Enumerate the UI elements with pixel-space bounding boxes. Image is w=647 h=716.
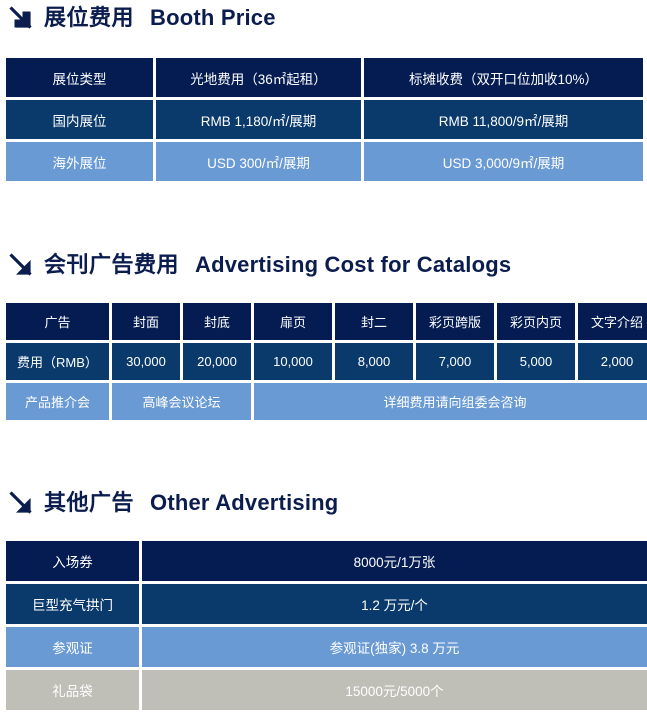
section-title-en-catalog: Advertising Cost for Catalogs (195, 254, 511, 276)
table-row: 广告 封面 封底 扉页 封二 彩页跨版 彩页内页 文字介绍 (6, 303, 647, 340)
section-title-en-booth: Booth Price (150, 7, 276, 29)
table-row: 参观证 参观证(独家) 3.8 万元 (6, 627, 647, 667)
section-header-catalog: 会刊广告费用 Advertising Cost for Catalogs (0, 252, 511, 278)
section-title-cn-catalog: 会刊广告费用 (44, 254, 179, 276)
catalog-footer-summit-forum: 高峰会议论坛 (112, 383, 251, 420)
other-ticket-value: 8000元/1万张 (142, 541, 647, 581)
booth-overseas-label: 海外展位 (6, 142, 153, 181)
other-advertising-table: 入场券 8000元/1万张 巨型充气拱门 1.2 万元/个 参观证 参观证(独家… (3, 538, 647, 713)
table-row: 礼品袋 15000元/5000个 (6, 670, 647, 710)
booth-header-type: 展位类型 (6, 58, 153, 97)
booth-header-raw: 光地费用（36㎡起租） (156, 58, 361, 97)
arrow-down-right-icon (8, 5, 34, 31)
section-title-cn-booth: 展位费用 (44, 7, 134, 29)
catalog-price-5: 7,000 (416, 343, 494, 380)
catalog-header-5: 彩页跨版 (416, 303, 494, 340)
section-header-other: 其他广告 Other Advertising (0, 490, 338, 516)
arrow-down-right-icon (8, 490, 34, 516)
catalog-price-2: 20,000 (183, 343, 251, 380)
other-arch-label: 巨型充气拱门 (6, 584, 139, 624)
other-giftbag-value: 15000元/5000个 (142, 670, 647, 710)
booth-domestic-label: 国内展位 (6, 100, 153, 139)
table-row: 海外展位 USD 300/㎡/展期 USD 3,000/9㎡/展期 (6, 142, 643, 181)
table-row: 国内展位 RMB 1,180/㎡/展期 RMB 11,800/9㎡/展期 (6, 100, 643, 139)
other-badge-label: 参观证 (6, 627, 139, 667)
booth-price-table: 展位类型 光地费用（36㎡起租） 标摊收费（双开口位加收10%） 国内展位 RM… (3, 55, 646, 184)
table-row: 巨型充气拱门 1.2 万元/个 (6, 584, 647, 624)
other-giftbag-label: 礼品袋 (6, 670, 139, 710)
catalog-price-1: 30,000 (112, 343, 180, 380)
table-row: 入场券 8000元/1万张 (6, 541, 647, 581)
catalog-advertising-table: 广告 封面 封底 扉页 封二 彩页跨版 彩页内页 文字介绍 费用（RMB） 30… (3, 300, 647, 423)
other-arch-value: 1.2 万元/个 (142, 584, 647, 624)
booth-overseas-shell: USD 3,000/9㎡/展期 (364, 142, 643, 181)
catalog-price-7: 2,000 (578, 343, 647, 380)
catalog-footer-note: 详细费用请向组委会咨询 (254, 383, 647, 420)
booth-domestic-shell: RMB 11,800/9㎡/展期 (364, 100, 643, 139)
table-row: 产品推介会 高峰会议论坛 详细费用请向组委会咨询 (6, 383, 647, 420)
catalog-price-4: 8,000 (335, 343, 413, 380)
section-title-en-other: Other Advertising (150, 492, 338, 514)
arrow-down-right-icon (8, 252, 34, 278)
catalog-header-0: 广告 (6, 303, 109, 340)
catalog-header-4: 封二 (335, 303, 413, 340)
section-title-cn-other: 其他广告 (44, 492, 134, 514)
other-ticket-label: 入场券 (6, 541, 139, 581)
catalog-footer-product-meeting: 产品推介会 (6, 383, 109, 420)
other-badge-value: 参观证(独家) 3.8 万元 (142, 627, 647, 667)
catalog-header-7: 文字介绍 (578, 303, 647, 340)
booth-domestic-raw: RMB 1,180/㎡/展期 (156, 100, 361, 139)
pricing-page: 展位费用 Booth Price 展位类型 光地费用（36㎡起租） 标摊收费（双… (0, 0, 647, 716)
catalog-price-3: 10,000 (254, 343, 332, 380)
catalog-header-6: 彩页内页 (497, 303, 575, 340)
catalog-header-1: 封面 (112, 303, 180, 340)
table-row: 费用（RMB） 30,000 20,000 10,000 8,000 7,000… (6, 343, 647, 380)
catalog-header-3: 扉页 (254, 303, 332, 340)
table-row: 展位类型 光地费用（36㎡起租） 标摊收费（双开口位加收10%） (6, 58, 643, 97)
catalog-price-6: 5,000 (497, 343, 575, 380)
booth-overseas-raw: USD 300/㎡/展期 (156, 142, 361, 181)
booth-header-shell: 标摊收费（双开口位加收10%） (364, 58, 643, 97)
catalog-header-2: 封底 (183, 303, 251, 340)
catalog-price-label: 费用（RMB） (6, 343, 109, 380)
section-header-booth: 展位费用 Booth Price (0, 5, 276, 31)
